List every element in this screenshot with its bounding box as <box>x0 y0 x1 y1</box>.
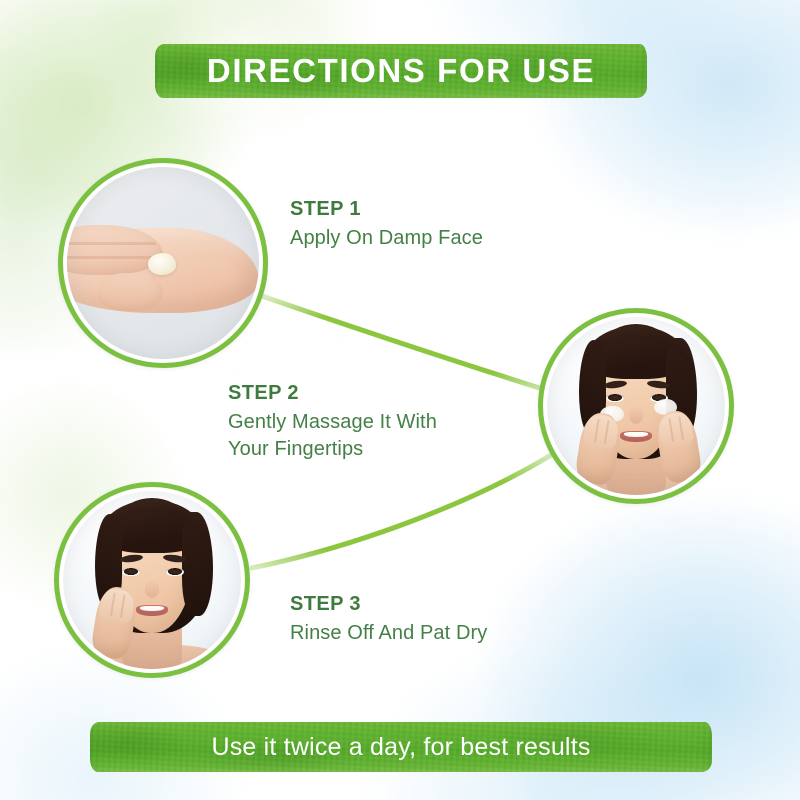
woman-massaging-face-icon <box>547 317 725 495</box>
connector-step1-to-step2 <box>262 296 552 392</box>
infographic-canvas: DIRECTIONS FOR USE <box>0 0 800 800</box>
step-2-label: STEP 2 <box>228 381 437 406</box>
step-3-label: STEP 3 <box>290 592 487 617</box>
step-3-image-circle <box>54 482 250 678</box>
photo-vignette <box>547 317 725 495</box>
step-1-image-circle <box>58 158 268 368</box>
page-title: DIRECTIONS FOR USE <box>207 52 595 90</box>
step-1-label: STEP 1 <box>290 197 483 222</box>
step-2-description-line-2: Your Fingertips <box>228 436 437 463</box>
step-2-description-line-1: Gently Massage It With <box>228 409 437 436</box>
photo-vignette <box>67 167 259 359</box>
step-2-text-block: STEP 2 Gently Massage It With Your Finge… <box>228 381 437 463</box>
footer-banner: Use it twice a day, for best results <box>90 722 712 772</box>
hand-with-product-icon <box>67 167 259 359</box>
woman-clean-face-icon <box>63 491 241 669</box>
step-3-text-block: STEP 3 Rinse Off And Pat Dry <box>290 592 487 647</box>
footer-note: Use it twice a day, for best results <box>211 733 590 762</box>
step-2-image-circle <box>538 308 734 504</box>
step-1-description-line-1: Apply On Damp Face <box>290 225 483 252</box>
connector-step2-to-step3 <box>252 452 556 568</box>
step-3-description-line-1: Rinse Off And Pat Dry <box>290 620 487 647</box>
photo-vignette <box>63 491 241 669</box>
step-1-text-block: STEP 1 Apply On Damp Face <box>290 197 483 252</box>
header-banner: DIRECTIONS FOR USE <box>155 44 647 98</box>
